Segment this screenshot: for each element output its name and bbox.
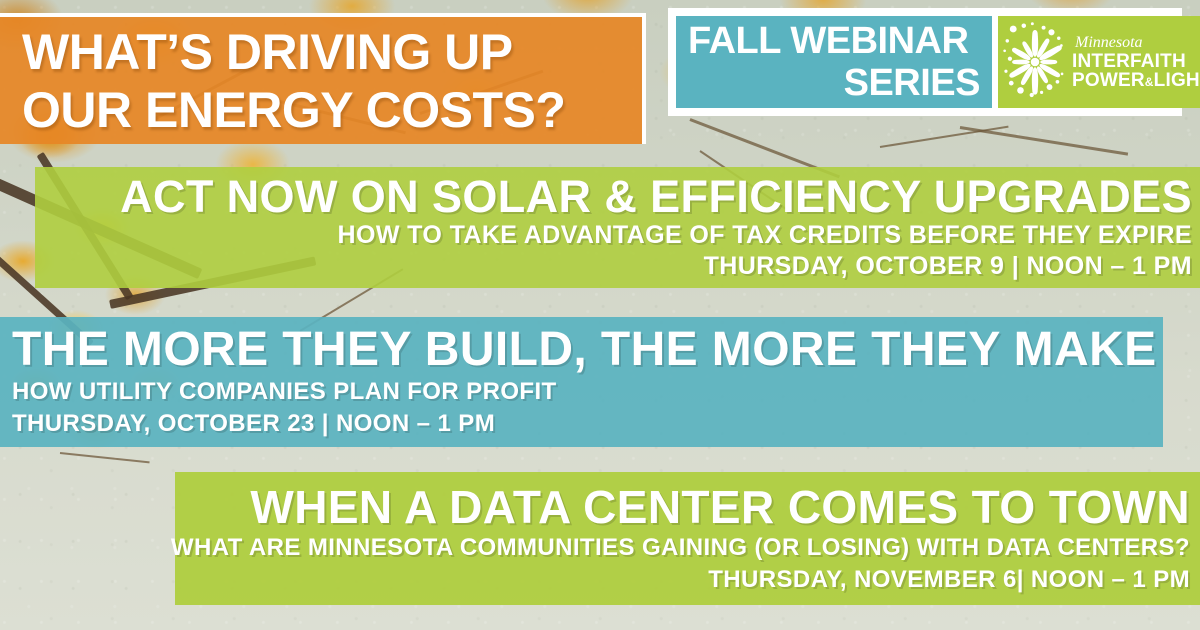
session-subtitle: HOW UTILITY COMPANIES PLAN FOR PROFIT — [12, 376, 557, 408]
headline-line-1: WHAT’S DRIVING UP — [22, 23, 642, 81]
logo-power: POWER — [1072, 70, 1145, 91]
session-title: THE MORE THEY BUILD, THE MORE THEY MAKE — [12, 324, 1157, 376]
headline-banner: WHAT’S DRIVING UP OUR ENERGY COSTS? — [0, 13, 646, 144]
logo-state: Minnesota — [1072, 35, 1200, 51]
logo-power-and-light: POWER&LIGHT — [1072, 71, 1200, 90]
logo-interfaith: INTERFAITH — [1072, 52, 1200, 71]
logo-wordmark: Minnesota INTERFAITH POWER&LIGHT — [1072, 35, 1200, 90]
session-banner-solar-efficiency: ACT NOW ON SOLAR & EFFICIENCY UPGRADES H… — [35, 167, 1200, 288]
session-subtitle: WHAT ARE MINNESOTA COMMUNITIES GAINING (… — [171, 532, 1190, 564]
starburst-sun-icon — [1002, 21, 1068, 103]
session-banner-data-center: WHEN A DATA CENTER COMES TO TOWN WHAT AR… — [175, 472, 1200, 605]
logo-ampersand: & — [1145, 75, 1154, 89]
session-banner-utility-profit: THE MORE THEY BUILD, THE MORE THEY MAKE … — [0, 317, 1163, 447]
session-datetime: THURSDAY, OCTOBER 23 | NOON – 1 PM — [12, 408, 495, 440]
session-datetime: THURSDAY, OCTOBER 9 | NOON – 1 PM — [704, 251, 1192, 282]
session-title: WHEN A DATA CENTER COMES TO TOWN — [250, 482, 1190, 532]
session-title: ACT NOW ON SOLAR & EFFICIENCY UPGRADES — [120, 173, 1192, 220]
headline-line-2: OUR ENERGY COSTS? — [22, 81, 642, 139]
fall-webinar-series-badge: FALL WEBINAR SERIES — [676, 16, 992, 108]
session-datetime: THURSDAY, NOVEMBER 6| NOON – 1 PM — [708, 564, 1190, 596]
series-and-logo-block: FALL WEBINAR SERIES — [668, 8, 1182, 116]
session-subtitle: HOW TO TAKE ADVANTAGE OF TAX CREDITS BEF… — [338, 220, 1192, 251]
mnipl-logo: Minnesota INTERFAITH POWER&LIGHT — [998, 16, 1200, 108]
logo-light: LIGHT — [1154, 70, 1200, 91]
series-line-2: SERIES — [688, 62, 980, 104]
series-line-1: FALL WEBINAR — [688, 20, 980, 62]
